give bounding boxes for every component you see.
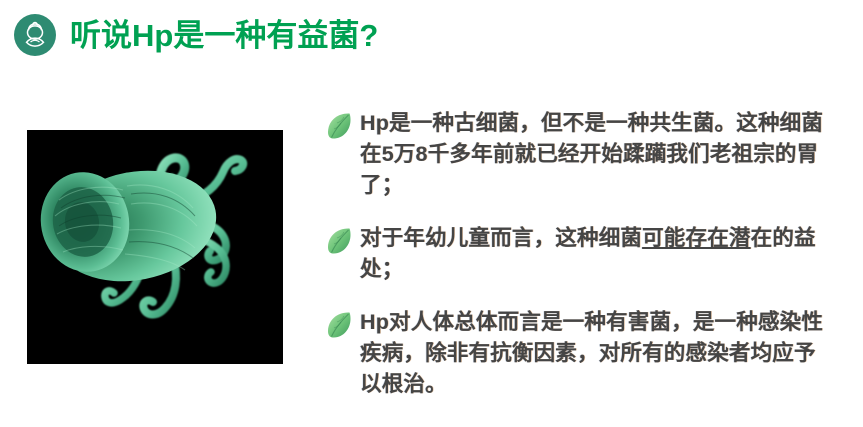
bullet-text-pre: 对于年幼儿童而言，这种细菌	[360, 226, 642, 250]
slide-root: 听说Hp是一种有益菌?	[0, 0, 863, 427]
bullet-text: Hp对人体总体而言是一种有害菌，是一种感染性疾病，除非有抗衡因素，对所有的感染者…	[360, 307, 832, 400]
leaf-icon	[326, 227, 352, 255]
bullet-list: Hp是一种古细菌，但不是一种共生菌。这种细菌在5万8千多年前就已经开始蹂躏我们老…	[326, 108, 846, 400]
list-item: Hp是一种古细菌，但不是一种共生菌。这种细菌在5万8千多年前就已经开始蹂躏我们老…	[326, 108, 846, 201]
helicobacter-pylori-photo	[27, 130, 283, 364]
bullet-text-pre: Hp是一种古细菌，但不是一种共生菌。这种细菌在5万8千多年前就已经开始蹂躏我们老…	[360, 111, 823, 197]
slide-header: 听说Hp是一种有益菌?	[14, 14, 378, 56]
leaf-icon	[326, 311, 352, 339]
bullet-text-underline: 可能存在潜	[642, 226, 751, 250]
bullet-text: Hp是一种古细菌，但不是一种共生菌。这种细菌在5万8千多年前就已经开始蹂躏我们老…	[360, 108, 832, 201]
bacteria-badge-icon	[14, 14, 56, 56]
list-item: 对于年幼儿童而言，这种细菌可能存在潜在的益处；	[326, 223, 846, 285]
bullet-text-pre: Hp对人体总体而言是一种有害菌，是一种感染性疾病，除非有抗衡因素，对所有的感染者…	[360, 310, 823, 396]
leaf-icon	[326, 112, 352, 140]
list-item: Hp对人体总体而言是一种有害菌，是一种感染性疾病，除非有抗衡因素，对所有的感染者…	[326, 307, 846, 400]
bullet-text: 对于年幼儿童而言，这种细菌可能存在潜在的益处；	[360, 223, 832, 285]
page-title: 听说Hp是一种有益菌?	[70, 20, 378, 51]
